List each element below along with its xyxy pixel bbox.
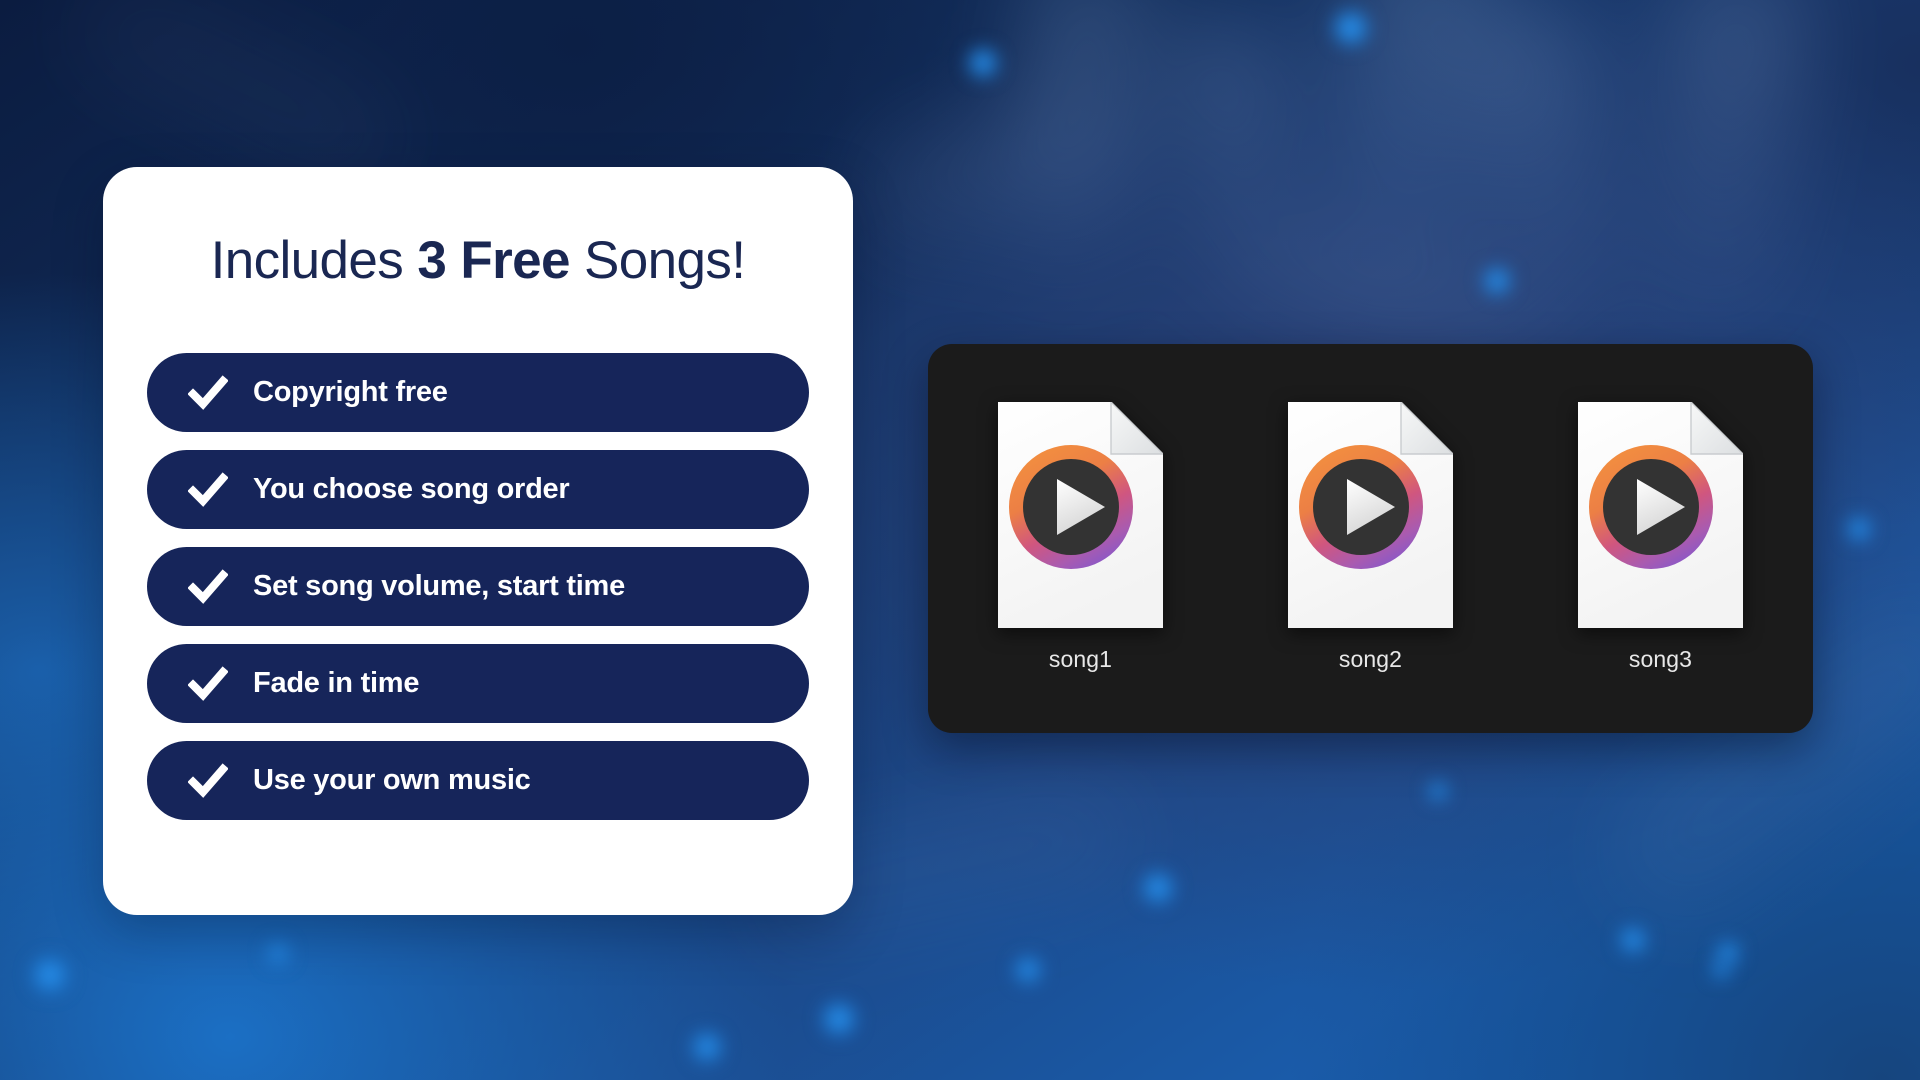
bokeh-dot — [1481, 265, 1513, 297]
benefit-label: Copyright free — [253, 376, 448, 409]
benefit-item-fade-in-time[interactable]: Fade in time — [147, 644, 809, 723]
file-label: song3 — [1629, 646, 1692, 673]
audio-file-play-icon — [1288, 402, 1453, 628]
bokeh-dot — [1618, 925, 1648, 955]
bokeh-dot — [1845, 515, 1873, 543]
heading-suffix: Songs! — [570, 231, 746, 290]
bokeh-dot — [30, 955, 70, 995]
benefit-item-copyright-free[interactable]: Copyright free — [147, 353, 809, 432]
bokeh-dot — [820, 1000, 858, 1038]
bokeh-dot — [1013, 955, 1043, 985]
file-label: song2 — [1339, 646, 1402, 673]
heading-prefix: Includes — [211, 231, 418, 290]
benefit-item-song-order[interactable]: You choose song order — [147, 450, 809, 529]
benefit-item-own-music[interactable]: Use your own music — [147, 741, 809, 820]
bokeh-dot — [1140, 870, 1176, 906]
song-files-panel: song1 song2 song3 — [928, 344, 1813, 733]
bokeh-dot — [690, 1030, 724, 1064]
audio-file-play-icon — [1578, 402, 1743, 628]
page-title: Includes 3 Free Songs! — [147, 233, 809, 289]
benefit-label: Fade in time — [253, 667, 419, 700]
bokeh-dot — [1331, 8, 1371, 48]
bokeh-dot — [1711, 960, 1731, 980]
audio-file-play-icon — [998, 402, 1163, 628]
benefit-item-volume-start-time[interactable]: Set song volume, start time — [147, 547, 809, 626]
bokeh-dot — [1427, 780, 1449, 802]
check-icon — [188, 664, 228, 704]
benefit-list: Copyright free You choose song order Set… — [147, 353, 809, 820]
file-label: song1 — [1049, 646, 1112, 673]
benefit-label: Use your own music — [253, 764, 531, 797]
heading-emphasis: 3 Free — [417, 231, 570, 290]
bokeh-dot — [265, 940, 291, 966]
check-icon — [188, 470, 228, 510]
benefit-label: Set song volume, start time — [253, 570, 625, 603]
bokeh-dot — [966, 46, 1000, 80]
promo-stage: Includes 3 Free Songs! Copyright free Yo… — [0, 0, 1920, 1080]
file-item-song1[interactable]: song1 — [996, 402, 1166, 673]
check-icon — [188, 373, 228, 413]
check-icon — [188, 761, 228, 801]
file-item-song3[interactable]: song3 — [1576, 402, 1746, 673]
feature-card: Includes 3 Free Songs! Copyright free Yo… — [103, 167, 853, 915]
benefit-label: You choose song order — [253, 473, 569, 506]
file-item-song2[interactable]: song2 — [1286, 402, 1456, 673]
check-icon — [188, 567, 228, 607]
